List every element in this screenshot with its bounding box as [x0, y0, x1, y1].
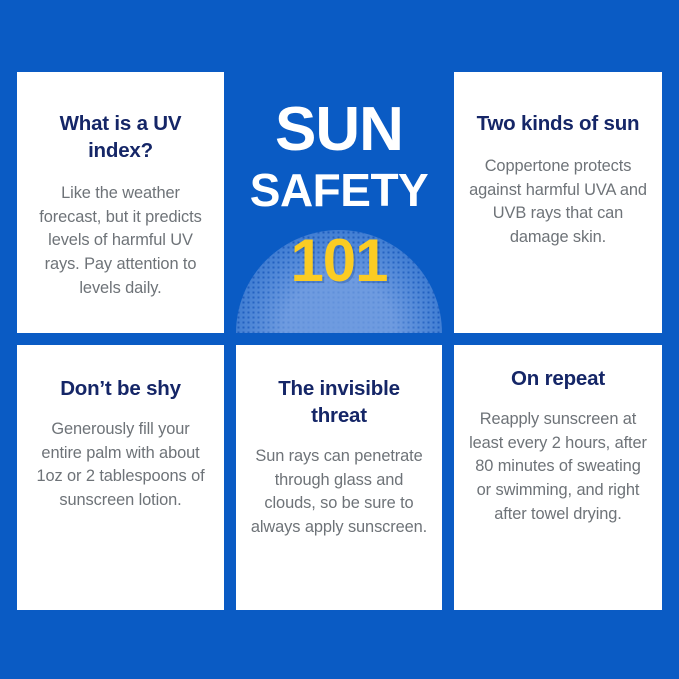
card-dont-be-shy-title: Don’t be shy	[60, 375, 181, 402]
card-invisible-threat: The invisible threat Sun rays can penetr…	[236, 345, 442, 610]
card-on-repeat: On repeat Reapply sunscreen at least eve…	[454, 345, 662, 610]
card-grid: What is a UV index? Like the weather for…	[17, 72, 662, 610]
card-invisible-threat-body: Sun rays can penetrate through glass and…	[250, 445, 428, 540]
logo-badge-101: 101	[290, 231, 387, 291]
card-uv-index-body: Like the weather forecast, but it predic…	[31, 182, 210, 300]
card-two-kinds-of-sun-body: Coppertone protects against harmful UVA …	[468, 155, 648, 250]
card-two-kinds-of-sun-title: Two kinds of sun	[477, 110, 640, 137]
card-dont-be-shy-body: Generously fill your entire palm with ab…	[31, 418, 210, 513]
sun-safety-infographic: What is a UV index? Like the weather for…	[0, 0, 679, 679]
card-invisible-threat-title: The invisible threat	[250, 375, 428, 429]
card-dont-be-shy: Don’t be shy Generously fill your entire…	[17, 345, 224, 610]
card-uv-index: What is a UV index? Like the weather for…	[17, 72, 224, 333]
card-two-kinds-of-sun: Two kinds of sun Coppertone protects aga…	[454, 72, 662, 333]
card-on-repeat-title: On repeat	[511, 365, 605, 392]
card-on-repeat-body: Reapply sunscreen at least every 2 hours…	[468, 408, 648, 526]
logo-title-sun: SUN	[275, 100, 403, 161]
card-uv-index-title: What is a UV index?	[31, 110, 210, 164]
logo-block: SUN SAFETY 101	[236, 72, 442, 333]
logo-title-safety: SAFETY	[250, 167, 428, 213]
